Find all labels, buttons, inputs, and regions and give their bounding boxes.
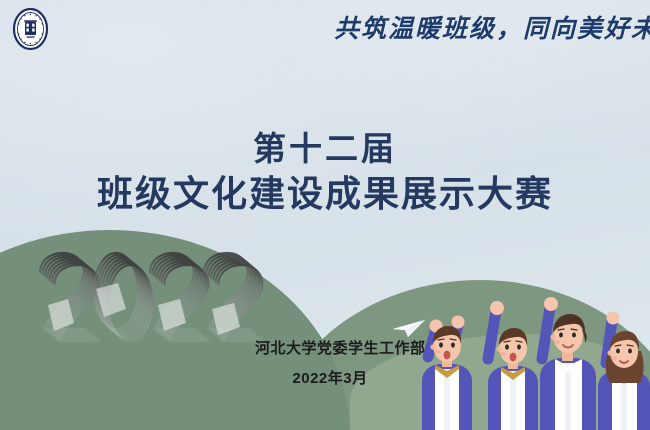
- slogan-calligraphy: 共筑温暖班级，同向美好未来: [334, 9, 634, 45]
- students-illustration: [410, 285, 650, 430]
- organizer-block: 河北大学党委学生工作部 2022年3月: [255, 338, 405, 388]
- poster-canvas: 共筑温暖班级，同向美好未来 第十二届 班级文化建设成果展示大赛 河北大学党委学生…: [0, 0, 650, 430]
- university-logo-seal: [12, 7, 49, 51]
- organizer-date: 2022年3月: [255, 367, 405, 388]
- organizer-name: 河北大学党委学生工作部: [255, 338, 405, 361]
- title-line-two: 班级文化建设成果展示大赛: [0, 171, 650, 216]
- year-2022-decoration: [34, 243, 264, 343]
- title-line-one: 第十二届: [0, 128, 650, 169]
- page-title: 第十二届 班级文化建设成果展示大赛: [0, 128, 650, 216]
